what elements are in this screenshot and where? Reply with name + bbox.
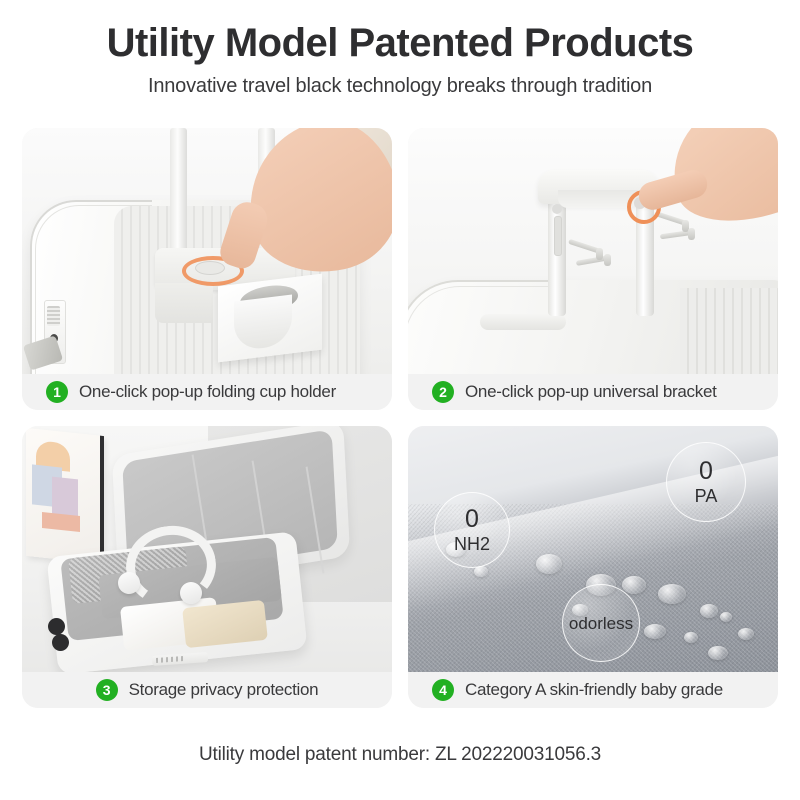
water-droplet: [720, 612, 732, 622]
fabric-badge-odorless: odorless: [562, 584, 640, 662]
folded-clothes-beige: [182, 600, 268, 648]
product-feature-page: Utility Model Patented Products Innovati…: [0, 0, 800, 800]
handle-bar-left: [170, 128, 187, 258]
feature-caption-4: 4 Category A skin-friendly baby grade: [408, 672, 778, 708]
headphone-earcup-right: [180, 582, 202, 604]
tsa-lock-dials: [47, 306, 60, 326]
water-droplet: [738, 628, 754, 640]
handle-grip-inner: [558, 190, 638, 208]
feature-card-grid: 1 One-click pop-up folding cup holder: [22, 128, 778, 708]
waterproof-fabric-scene: 0 PA 0 NH2 odorless: [408, 426, 778, 672]
fabric-badge-pa-value: 0: [699, 459, 713, 484]
feature-caption-text-2: One-click pop-up universal bracket: [465, 382, 717, 402]
feature-photo-fabric: 0 PA 0 NH2 odorless: [408, 426, 778, 672]
open-suitcase-scene: [22, 426, 392, 672]
feature-caption-1: 1 One-click pop-up folding cup holder: [22, 374, 392, 410]
water-droplet: [622, 576, 646, 594]
fabric-badge-pa-unit: PA: [695, 487, 718, 505]
feature-card-2[interactable]: 2 One-click pop-up universal bracket: [408, 128, 778, 410]
spinner-wheel-2: [52, 634, 69, 651]
side-carry-handle: [480, 314, 566, 330]
step-badge-2: 2: [432, 381, 454, 403]
suitcase-cup-holder-scene: [22, 128, 392, 374]
release-button-center: [195, 261, 225, 275]
handle-base-plate-lower: [155, 283, 213, 323]
step-badge-1: 1: [46, 381, 68, 403]
feature-card-3[interactable]: 3 Storage privacy protection: [22, 426, 392, 708]
suitcase-ribbed-panel: [680, 288, 778, 374]
water-droplet: [658, 584, 686, 604]
feature-photo-storage-privacy: [22, 426, 392, 672]
water-droplet: [684, 632, 698, 643]
feature-card-4[interactable]: 0 PA 0 NH2 odorless 4 Category A skin-fr…: [408, 426, 778, 708]
handle-adjust-button: [552, 204, 562, 214]
water-droplet: [536, 554, 562, 574]
water-droplet: [700, 604, 718, 618]
step-badge-3: 3: [96, 679, 118, 701]
water-droplet: [644, 624, 666, 639]
headphone-earcup-left: [118, 572, 140, 594]
suitcase-bracket-scene: [408, 128, 778, 374]
water-droplet: [708, 646, 728, 660]
spinner-wheel-1: [48, 618, 65, 635]
fabric-badge-nh2-value: 0: [465, 507, 479, 532]
feature-caption-text-1: One-click pop-up folding cup holder: [79, 382, 336, 402]
handle-adjust-slot: [554, 216, 562, 256]
step-badge-4: 4: [432, 679, 454, 701]
fabric-badge-pa: 0 PA: [666, 442, 746, 522]
page-header: Utility Model Patented Products Innovati…: [0, 0, 800, 98]
feature-caption-text-3: Storage privacy protection: [129, 680, 319, 700]
page-title: Utility Model Patented Products: [0, 22, 800, 64]
feature-caption-text-4: Category A skin-friendly baby grade: [465, 680, 723, 700]
feature-caption-3: 3 Storage privacy protection: [22, 672, 392, 708]
suitcase-rim-inner: [408, 286, 561, 374]
fabric-badge-nh2: 0 NH2: [434, 492, 510, 568]
feature-photo-cup-holder: [22, 128, 392, 374]
bracket-hook-tip-1: [596, 248, 603, 260]
bracket-hook-tip-4: [688, 228, 695, 240]
fabric-badge-nh2-unit: NH2: [454, 535, 490, 553]
feature-caption-2: 2 One-click pop-up universal bracket: [408, 374, 778, 410]
bracket-hook-tip-2: [604, 254, 611, 266]
page-subtitle: Innovative travel black technology break…: [0, 75, 800, 98]
patent-number-footer: Utility model patent number: ZL 20222003…: [0, 744, 800, 766]
feature-photo-universal-bracket: [408, 128, 778, 374]
feature-card-1[interactable]: 1 One-click pop-up folding cup holder: [22, 128, 392, 410]
fabric-badge-odorless-text: odorless: [569, 615, 633, 632]
